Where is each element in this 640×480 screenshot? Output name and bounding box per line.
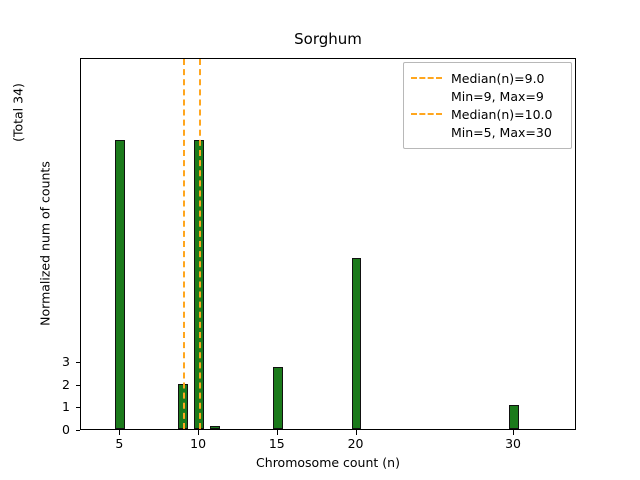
y-axis-total-label: (Total 34) — [11, 53, 26, 173]
x-tick-mark — [198, 430, 199, 435]
y-tick-label: 0 — [50, 424, 70, 437]
bar-15 — [273, 367, 283, 429]
y-tick-label: 1 — [50, 401, 70, 414]
y-tick-mark — [76, 430, 81, 431]
y-axis-label: Normalized num of counts — [38, 144, 53, 344]
bar-5 — [115, 140, 125, 429]
figure-canvas: Sorghum 0123 510152030 Chromosome count … — [0, 0, 640, 480]
legend-item: Median(n)=9.0 — [411, 69, 564, 87]
x-tick-label: 20 — [348, 437, 364, 451]
x-tick-label: 30 — [505, 437, 521, 451]
median-line-9 — [183, 59, 185, 429]
page-title: Sorghum — [80, 30, 576, 48]
x-tick-mark — [277, 430, 278, 435]
median-line-10 — [199, 59, 201, 429]
legend-item-label: Median(n)=9.0 — [451, 72, 545, 85]
y-tick-mark — [76, 362, 81, 363]
x-tick-mark — [356, 430, 357, 435]
x-tick-label: 5 — [115, 437, 123, 451]
legend-item-label: Min=9, Max=9 — [451, 90, 544, 103]
y-tick-mark — [76, 407, 81, 408]
x-tick-label: 10 — [190, 437, 206, 451]
y-tick-mark — [76, 385, 81, 386]
legend-item-label: Min=5, Max=30 — [451, 126, 552, 139]
legend-item: Min=5, Max=30 — [411, 123, 564, 141]
legend-item-label: Median(n)=10.0 — [451, 108, 552, 121]
dashed-line-icon — [411, 77, 442, 79]
legend-box: Median(n)=9.0 Min=9, Max=9 Median(n)=10.… — [403, 62, 572, 149]
x-tick-mark — [119, 430, 120, 435]
x-tick-mark — [513, 430, 514, 435]
y-tick-label: 3 — [50, 356, 70, 369]
dashed-line-icon — [411, 113, 442, 115]
bar-30 — [509, 405, 519, 429]
legend-item: Min=9, Max=9 — [411, 87, 564, 105]
bar-20 — [352, 258, 362, 429]
x-axis-label: Chromosome count (n) — [80, 455, 576, 470]
y-tick-label: 2 — [50, 379, 70, 392]
x-tick-label: 15 — [269, 437, 285, 451]
bar-11 — [210, 426, 220, 429]
legend-item: Median(n)=10.0 — [411, 105, 564, 123]
